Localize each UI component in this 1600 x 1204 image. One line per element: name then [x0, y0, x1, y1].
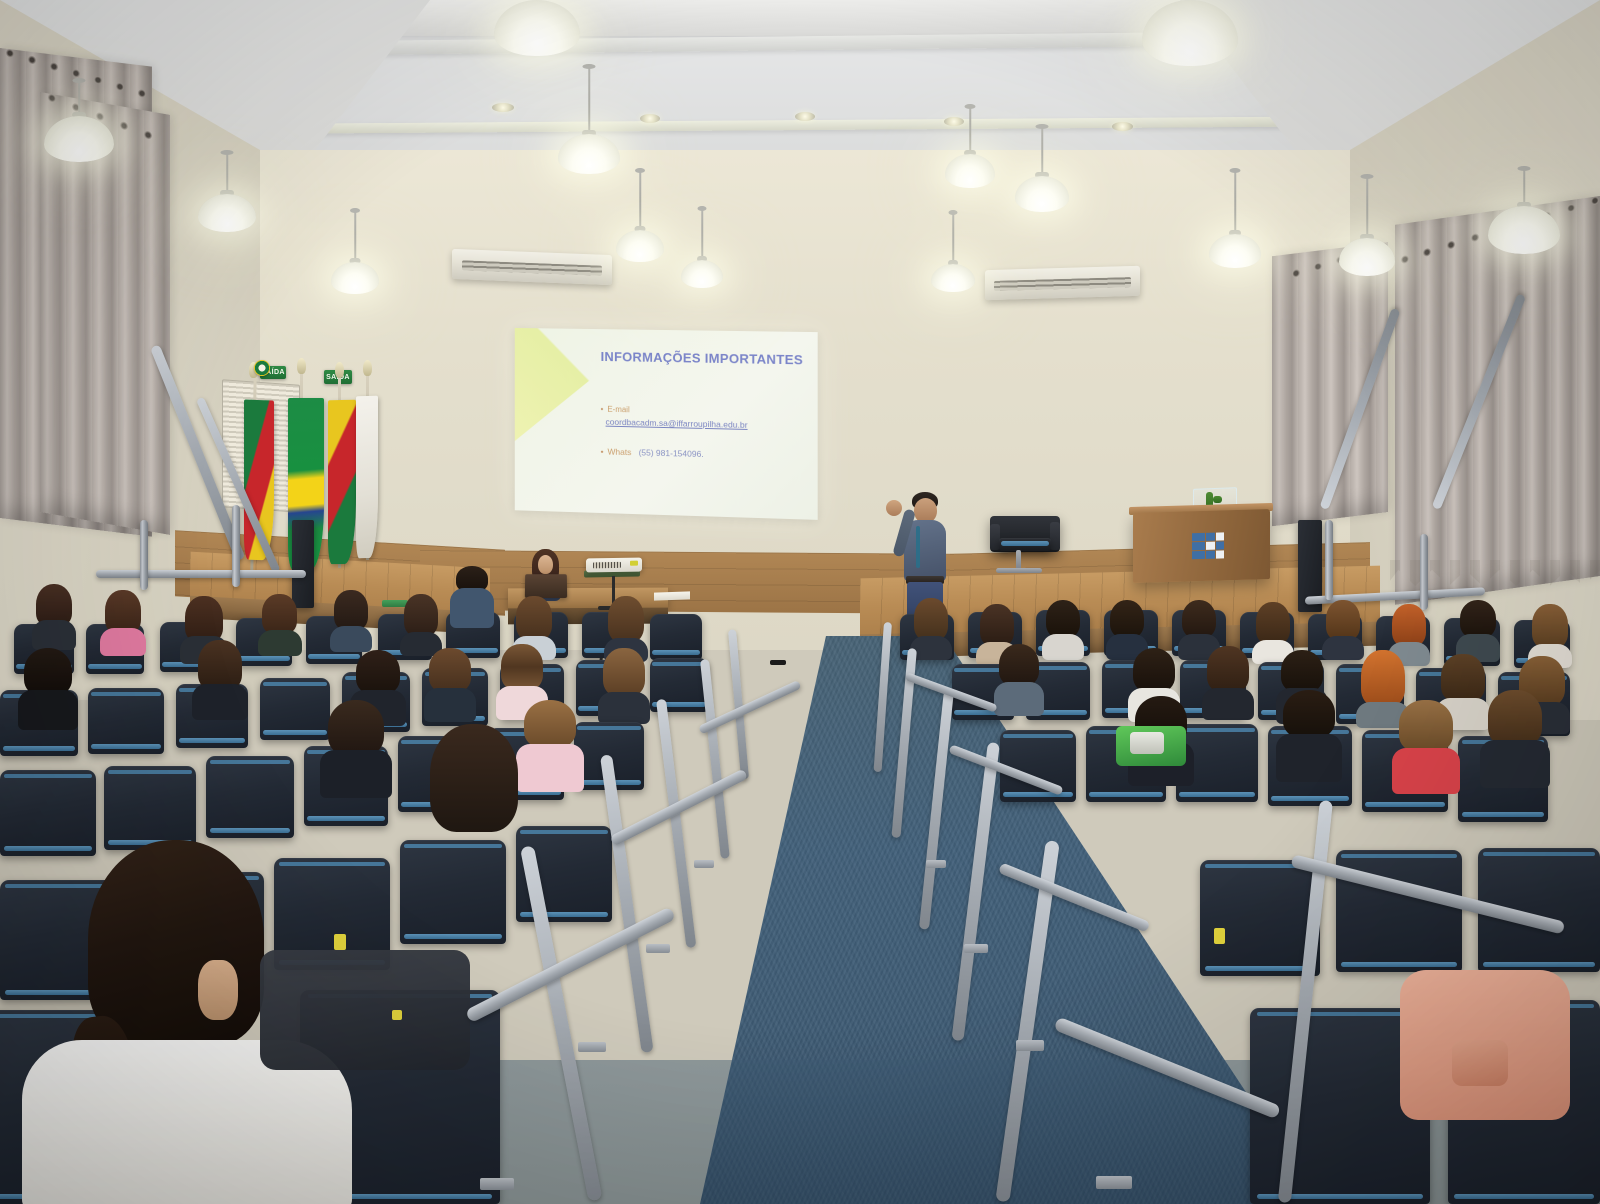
pendant-light	[556, 64, 622, 180]
backpack-pocket	[1452, 1040, 1508, 1086]
audience-member	[1322, 600, 1364, 654]
seat[interactable]	[206, 756, 294, 838]
presenter-lanyard	[916, 526, 920, 568]
seat[interactable]	[650, 614, 702, 660]
audience-member	[1480, 690, 1550, 786]
recessed-spot	[640, 114, 660, 123]
pendant-light	[492, 0, 582, 60]
rail-foot	[694, 860, 714, 868]
audience-member	[330, 590, 372, 642]
rail-foot	[926, 860, 946, 868]
foreground-hair	[88, 840, 264, 1046]
audience-member	[1456, 600, 1500, 656]
pendant-light	[196, 150, 258, 254]
pendant-light	[680, 206, 724, 302]
audience-member	[1528, 604, 1572, 660]
rail-post	[232, 505, 240, 587]
seat[interactable]	[104, 766, 196, 850]
air-conditioner-right	[985, 266, 1140, 300]
seat[interactable]	[1336, 850, 1462, 972]
aisle-rail-left	[700, 659, 730, 859]
bag-label	[1130, 732, 1164, 754]
flag-institutional	[356, 396, 378, 559]
audience-member	[18, 648, 78, 720]
audience-member	[452, 566, 492, 624]
podium-plant-decoration	[1213, 496, 1222, 503]
audience-member	[994, 644, 1044, 710]
projector	[586, 558, 642, 573]
rail-foot	[1016, 1040, 1044, 1051]
audience-member	[400, 594, 442, 646]
slide-bullet-whatsapp: •Whats (55) 981-154096.	[601, 446, 704, 459]
audience-member	[424, 648, 476, 716]
pendant-light	[614, 168, 666, 278]
foreground-neck-ear	[198, 960, 238, 1020]
flag-finial	[335, 362, 344, 378]
rail-post	[1325, 520, 1333, 600]
bullet-dot-icon: •	[601, 446, 604, 456]
audience-member	[512, 596, 556, 650]
podium-lectern	[1133, 509, 1270, 583]
audience-member	[1042, 600, 1084, 654]
pendant-light	[930, 210, 976, 306]
seat[interactable]	[88, 688, 164, 754]
pendant-light	[1486, 166, 1562, 286]
pendant-light	[944, 104, 996, 210]
audience-member	[258, 594, 302, 646]
audience-member	[598, 648, 650, 718]
bag-on-seat	[260, 950, 470, 1070]
stage-armchair	[990, 516, 1060, 552]
pendant-light	[1140, 0, 1240, 76]
flag-finial	[363, 360, 372, 376]
pendant-light	[1208, 168, 1262, 278]
pendant-light	[1338, 174, 1396, 288]
pendant-light	[1014, 124, 1070, 236]
projection-screen: INFORMAÇÕES IMPORTANTES •E-mail coordbac…	[515, 328, 818, 520]
rail-post	[1420, 534, 1428, 610]
rail-foot	[578, 1042, 606, 1052]
audience-member	[100, 590, 146, 644]
audience-member	[420, 724, 532, 874]
flag-rio-grande-do-sul-2	[328, 400, 356, 564]
rail-foot	[646, 944, 670, 953]
pendant-light	[42, 78, 116, 188]
rail-post	[140, 520, 148, 590]
seat-yellow-tag	[334, 934, 346, 950]
armchair-base	[996, 568, 1042, 573]
audience-member	[1392, 700, 1460, 792]
auditorium-scene: SAÍDA SAÍDA INFORMAÇÕES IMPORTANTES •E-m…	[0, 0, 1600, 1204]
slide-bullet-email-value: coordbacadm.sa@iffarroupilha.edu.br	[606, 417, 748, 430]
audience-member	[1276, 690, 1342, 780]
seat[interactable]	[1000, 730, 1076, 802]
moderator-head	[538, 555, 553, 574]
seat-yellow-tag	[1214, 928, 1225, 944]
recessed-spot	[492, 103, 514, 112]
recessed-spot	[795, 112, 815, 121]
pendant-light	[330, 208, 380, 304]
flag-rosette	[254, 360, 270, 376]
armchair-post	[1016, 550, 1021, 570]
papers-on-table	[654, 591, 690, 600]
recessed-spot	[1112, 122, 1133, 131]
stage-rail-horizontal-left	[96, 570, 306, 578]
audience-member	[320, 700, 392, 790]
laptop	[525, 574, 567, 598]
audience-member	[192, 640, 248, 710]
presenter-raised-hand	[886, 500, 902, 516]
audience-member	[1202, 646, 1254, 714]
cable-connector	[770, 660, 786, 665]
audience-member	[1106, 600, 1148, 654]
institution-logo	[1192, 532, 1224, 559]
audience-member	[32, 584, 76, 640]
rail-foot	[480, 1178, 514, 1190]
air-conditioner-left	[452, 249, 612, 285]
audience-member	[910, 598, 952, 652]
flag-finial	[297, 358, 306, 374]
rail-foot	[964, 944, 988, 953]
audience-member	[1252, 602, 1294, 656]
slide-title: INFORMAÇÕES IMPORTANTES	[601, 349, 803, 367]
seat[interactable]	[1200, 860, 1320, 976]
bullet-dot-icon: •	[601, 405, 604, 414]
rail-foot	[1096, 1176, 1132, 1189]
slide-bullet-email-label: •E-mail	[601, 405, 630, 415]
seat-yellow-tag	[392, 1010, 402, 1020]
audience-member	[604, 596, 648, 652]
